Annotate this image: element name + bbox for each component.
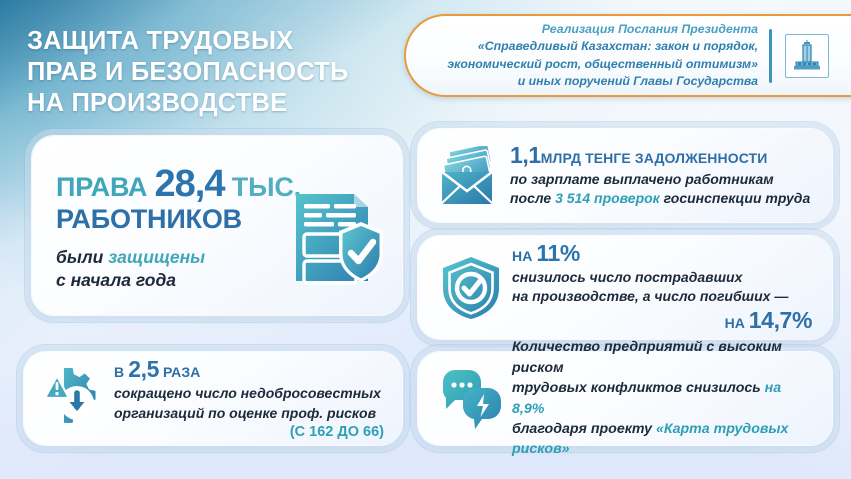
government-building-icon — [785, 34, 829, 78]
page-title-line-1: ЗАЩИТА ТРУДОВЫХ — [27, 27, 293, 55]
injury-tail: НА 14,7% — [512, 307, 816, 334]
document-shield-icon — [292, 188, 388, 297]
debt-inspections-highlight: 3 514 проверок — [555, 190, 660, 206]
page-title-line-2: ПРАВ И БЕЗОПАСНОСТЬ — [27, 58, 349, 86]
debt-body-line-2-post: госинспекции труда — [660, 190, 810, 206]
injury-body: снизилось число пострадавших на производ… — [512, 268, 816, 307]
card-workers-rights: ПРАВА 28,4 ТЫС. РАБОТНИКОВ были защищены… — [32, 136, 402, 315]
workers-sub-part1: были — [56, 247, 108, 267]
workers-subtext: были защищены с начала года — [56, 246, 314, 293]
debt-headline: 1,1МЛРД ТЕНГЕ ЗАДОЛЖЕННОСТИ — [510, 143, 816, 168]
gear-headline: В 2,5 РАЗА — [114, 357, 388, 382]
banner-divider — [769, 29, 772, 83]
workers-head-word2: РАБОТНИКОВ — [56, 204, 242, 234]
debt-number: 1,1 — [510, 142, 541, 168]
page-title-line-3: НА ПРОИЗВОДСТВЕ — [27, 89, 287, 117]
debt-body-line-1: по зарплате выплачено работникам — [510, 171, 774, 187]
chat-bubbles-lightning-icon — [434, 368, 508, 430]
injury-tail-number: 14,7% — [749, 307, 812, 333]
workers-sub-part2: с начала года — [56, 270, 176, 290]
injury-body-line-1: снизилось число пострадавших — [512, 269, 742, 285]
workers-headline: ПРАВА 28,4 ТЫС. РАБОТНИКОВ — [56, 164, 322, 234]
debt-text: 1,1МЛРД ТЕНГЕ ЗАДОЛЖЕННОСТИ по зарплате … — [504, 143, 816, 209]
injury-body-line-2: на производстве, а число погибших — — [512, 288, 788, 304]
gear-body: сокращено число недобросовестных организ… — [114, 384, 388, 423]
banner-line-2: «Справедливый Казахстан: закон и порядок… — [478, 39, 758, 53]
debt-body-line-2-pre: после — [510, 190, 555, 206]
gear-body-line-1: сокращено число недобросовестных — [114, 385, 381, 401]
workers-sub-highlight: защищены — [108, 247, 205, 267]
gear-warning-down-icon — [38, 368, 112, 430]
injury-headline: НА 11% — [512, 241, 816, 266]
gear-lead-pre: В — [114, 364, 128, 380]
chat-body-line-1: Количество предприятий с высоким риском — [512, 339, 782, 375]
gear-text: В 2,5 РАЗА сокращено число недобросовест… — [112, 357, 388, 440]
card-wage-debt: 1,1МЛРД ТЕНГЕ ЗАДОЛЖЕННОСТИ по зарплате … — [418, 129, 832, 222]
chat-text: Количество предприятий с высоким риском … — [508, 337, 816, 460]
workers-head-word1: ПРАВА — [56, 172, 147, 202]
injury-lead-pre: НА — [512, 248, 536, 264]
gear-number: 2,5 — [128, 356, 159, 382]
gear-lead-post: РАЗА — [159, 364, 201, 380]
debt-headline-rest: МЛРД ТЕНГЕ ЗАДОЛЖЕННОСТИ — [541, 150, 768, 166]
debt-body: по зарплате выплачено работникам после 3… — [510, 170, 816, 209]
gear-body-line-2: организаций по оценке проф. рисков — [114, 405, 376, 421]
gear-range-note: (С 162 ДО 66) — [114, 424, 388, 440]
injury-number: 11% — [536, 240, 580, 266]
shield-check-icon — [434, 255, 508, 321]
page-title: ЗАЩИТА ТРУДОВЫХ ПРАВ И БЕЗОПАСНОСТЬ НА П… — [27, 26, 399, 119]
card-labor-conflicts: Количество предприятий с высоким риском … — [418, 352, 832, 445]
banner-line-4: и иных поручений Главы Государства — [518, 74, 758, 88]
injury-text: НА 11% снизилось число пострадавших на п… — [508, 241, 816, 335]
banner-line-1: Реализация Послания Президента — [418, 21, 758, 38]
chat-body-line-3-pre: благодаря проекту — [512, 421, 656, 437]
chat-body-line-2-pre: трудовых конфликтов снизилось — [512, 380, 765, 396]
card-unfair-organizations: В 2,5 РАЗА сокращено число недобросовест… — [24, 352, 402, 445]
workers-head-unit: ТЫС. — [232, 172, 301, 202]
workers-head-number: 28,4 — [155, 163, 225, 205]
banner-text: Реализация Послания Президента «Справедл… — [406, 21, 758, 91]
banner-line-3: экономический рост, общественный оптимиз… — [447, 57, 758, 71]
president-message-banner: Реализация Послания Президента «Справедл… — [404, 14, 851, 97]
injury-tail-pre: НА — [725, 315, 749, 331]
chat-body: Количество предприятий с высоким риском … — [512, 337, 816, 460]
card-injury-reduction: НА 11% снизилось число пострадавших на п… — [418, 236, 832, 339]
envelope-money-icon — [434, 146, 504, 206]
